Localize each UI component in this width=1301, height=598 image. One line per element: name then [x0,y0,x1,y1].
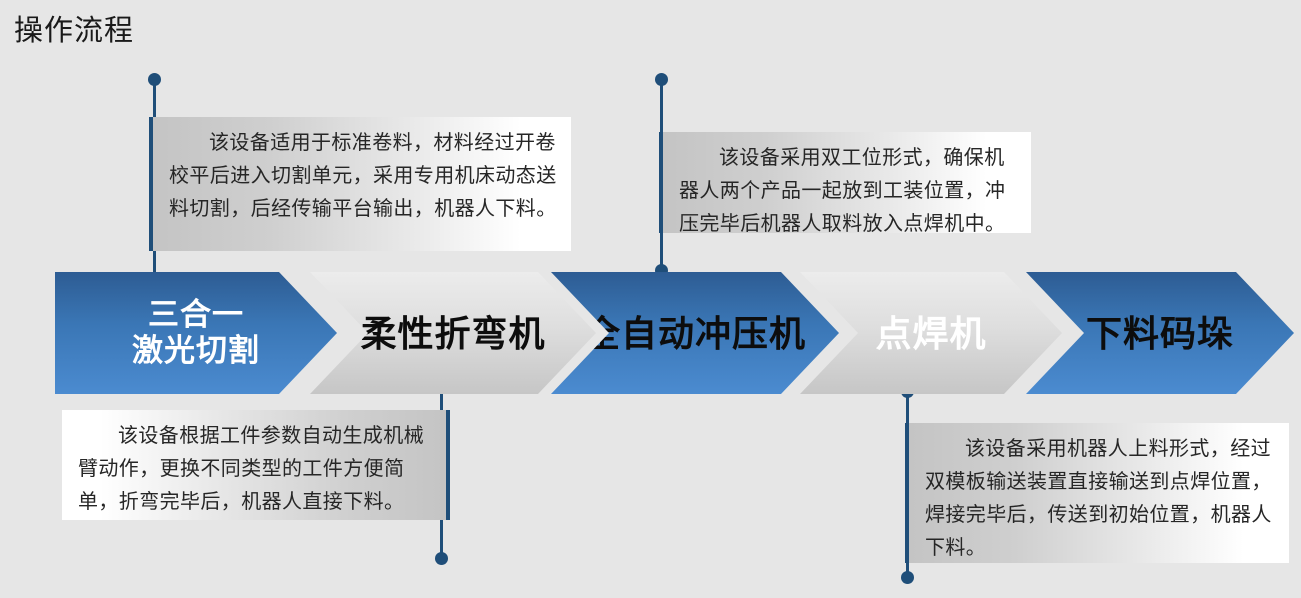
process-step-2[interactable]: 柔性折弯机 [310,272,596,394]
process-step-5-label: 下料码垛 [1086,313,1234,354]
callout-text-1: 该设备适用于标准卷料，材料经过开卷校平后进入切割单元，采用专用机床动态送料切割，… [169,127,558,226]
process-step-1-label: 三合一 激光切割 [132,297,260,369]
process-step-5[interactable]: 下料码垛 [1026,272,1294,394]
connector-dot-callout-2-top [655,73,668,86]
process-step-4[interactable]: 点焊机 [800,272,1062,394]
callout-text-2: 该设备采用双工位形式，确保机器人两个产品一起放到工装位置，冲压完毕后机器人取料放… [679,142,1018,241]
connector-dot-callout-1-top [148,73,161,86]
process-step-4-label: 点焊机 [875,313,986,354]
connector-dot-callout-4-bottom [901,571,914,584]
process-step-3-label: 全自动冲压机 [584,313,806,354]
connector-dot-callout-3-bottom [435,552,448,565]
callout-text-3: 该设备根据工件参数自动生成机械臂动作，更换不同类型的工件方便简单，折弯完毕后，机… [78,420,433,519]
process-flow-band: 三合一 激光切割 柔性折弯机 全自动冲压机 点焊机 下料码垛 [0,272,1301,394]
callout-box-4: 该设备采用机器人上料形式，经过双模板输送装置直接输送到点焊位置，焊接完毕后，传送… [905,423,1289,563]
page-title: 操作流程 [14,14,134,48]
callout-box-3: 该设备根据工件参数自动生成机械臂动作，更换不同类型的工件方便简单，折弯完毕后，机… [62,410,450,520]
callout-box-2: 该设备采用双工位形式，确保机器人两个产品一起放到工装位置，冲压完毕后机器人取料放… [659,132,1031,233]
process-step-1[interactable]: 三合一 激光切割 [55,272,337,394]
callout-text-4: 该设备采用机器人上料形式，经过双模板输送装置直接输送到点焊位置，焊接完毕后，传送… [925,433,1276,565]
process-step-2-label: 柔性折弯机 [360,313,545,354]
callout-box-1: 该设备适用于标准卷料，材料经过开卷校平后进入切割单元，采用专用机床动态送料切割，… [149,117,571,251]
